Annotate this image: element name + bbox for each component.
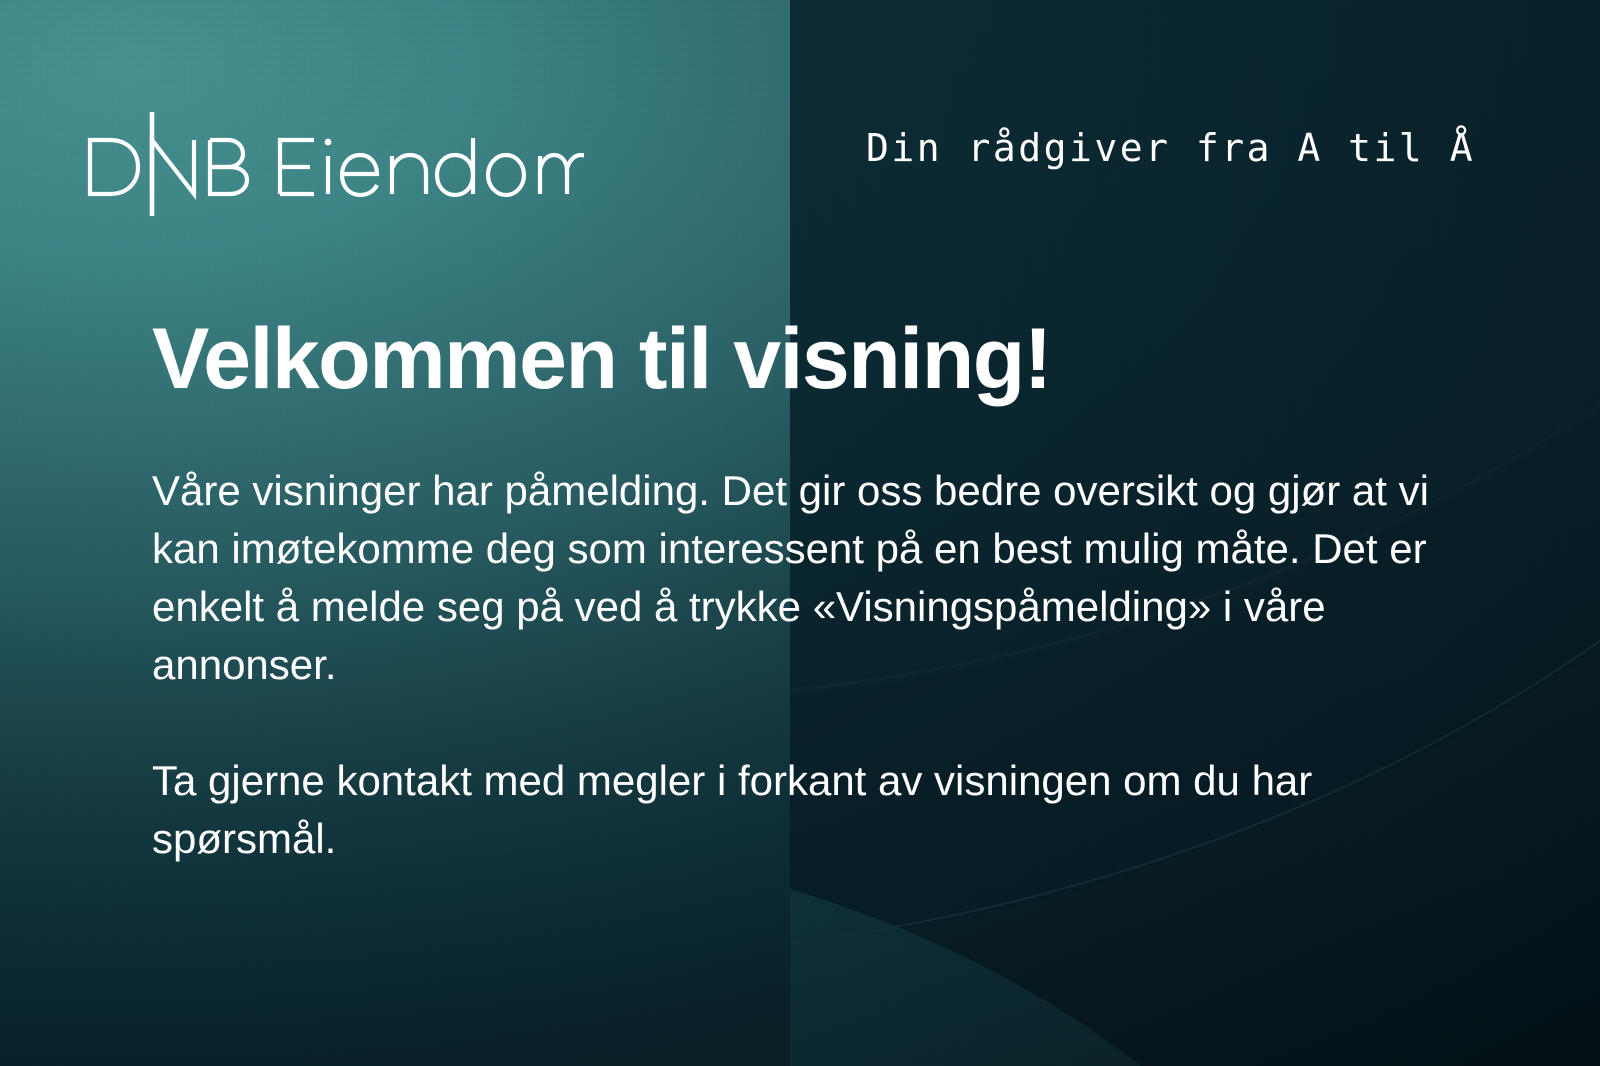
body-paragraph-2: Ta gjerne kontakt med megler i forkant a… (152, 752, 1442, 868)
tagline: Din rådgiver fra A til Å (866, 126, 1475, 170)
dnb-eiendom-logo: DNB Eiendom (84, 112, 584, 190)
body-copy: Våre visninger har påmelding. Det gir os… (152, 462, 1442, 868)
slide-content: DNB Eiendom (0, 0, 1600, 1066)
slide-root: DNB Eiendom (0, 0, 1600, 1066)
page-title: Velkommen til visning! (152, 316, 1051, 402)
body-paragraph-1: Våre visninger har påmelding. Det gir os… (152, 462, 1442, 694)
